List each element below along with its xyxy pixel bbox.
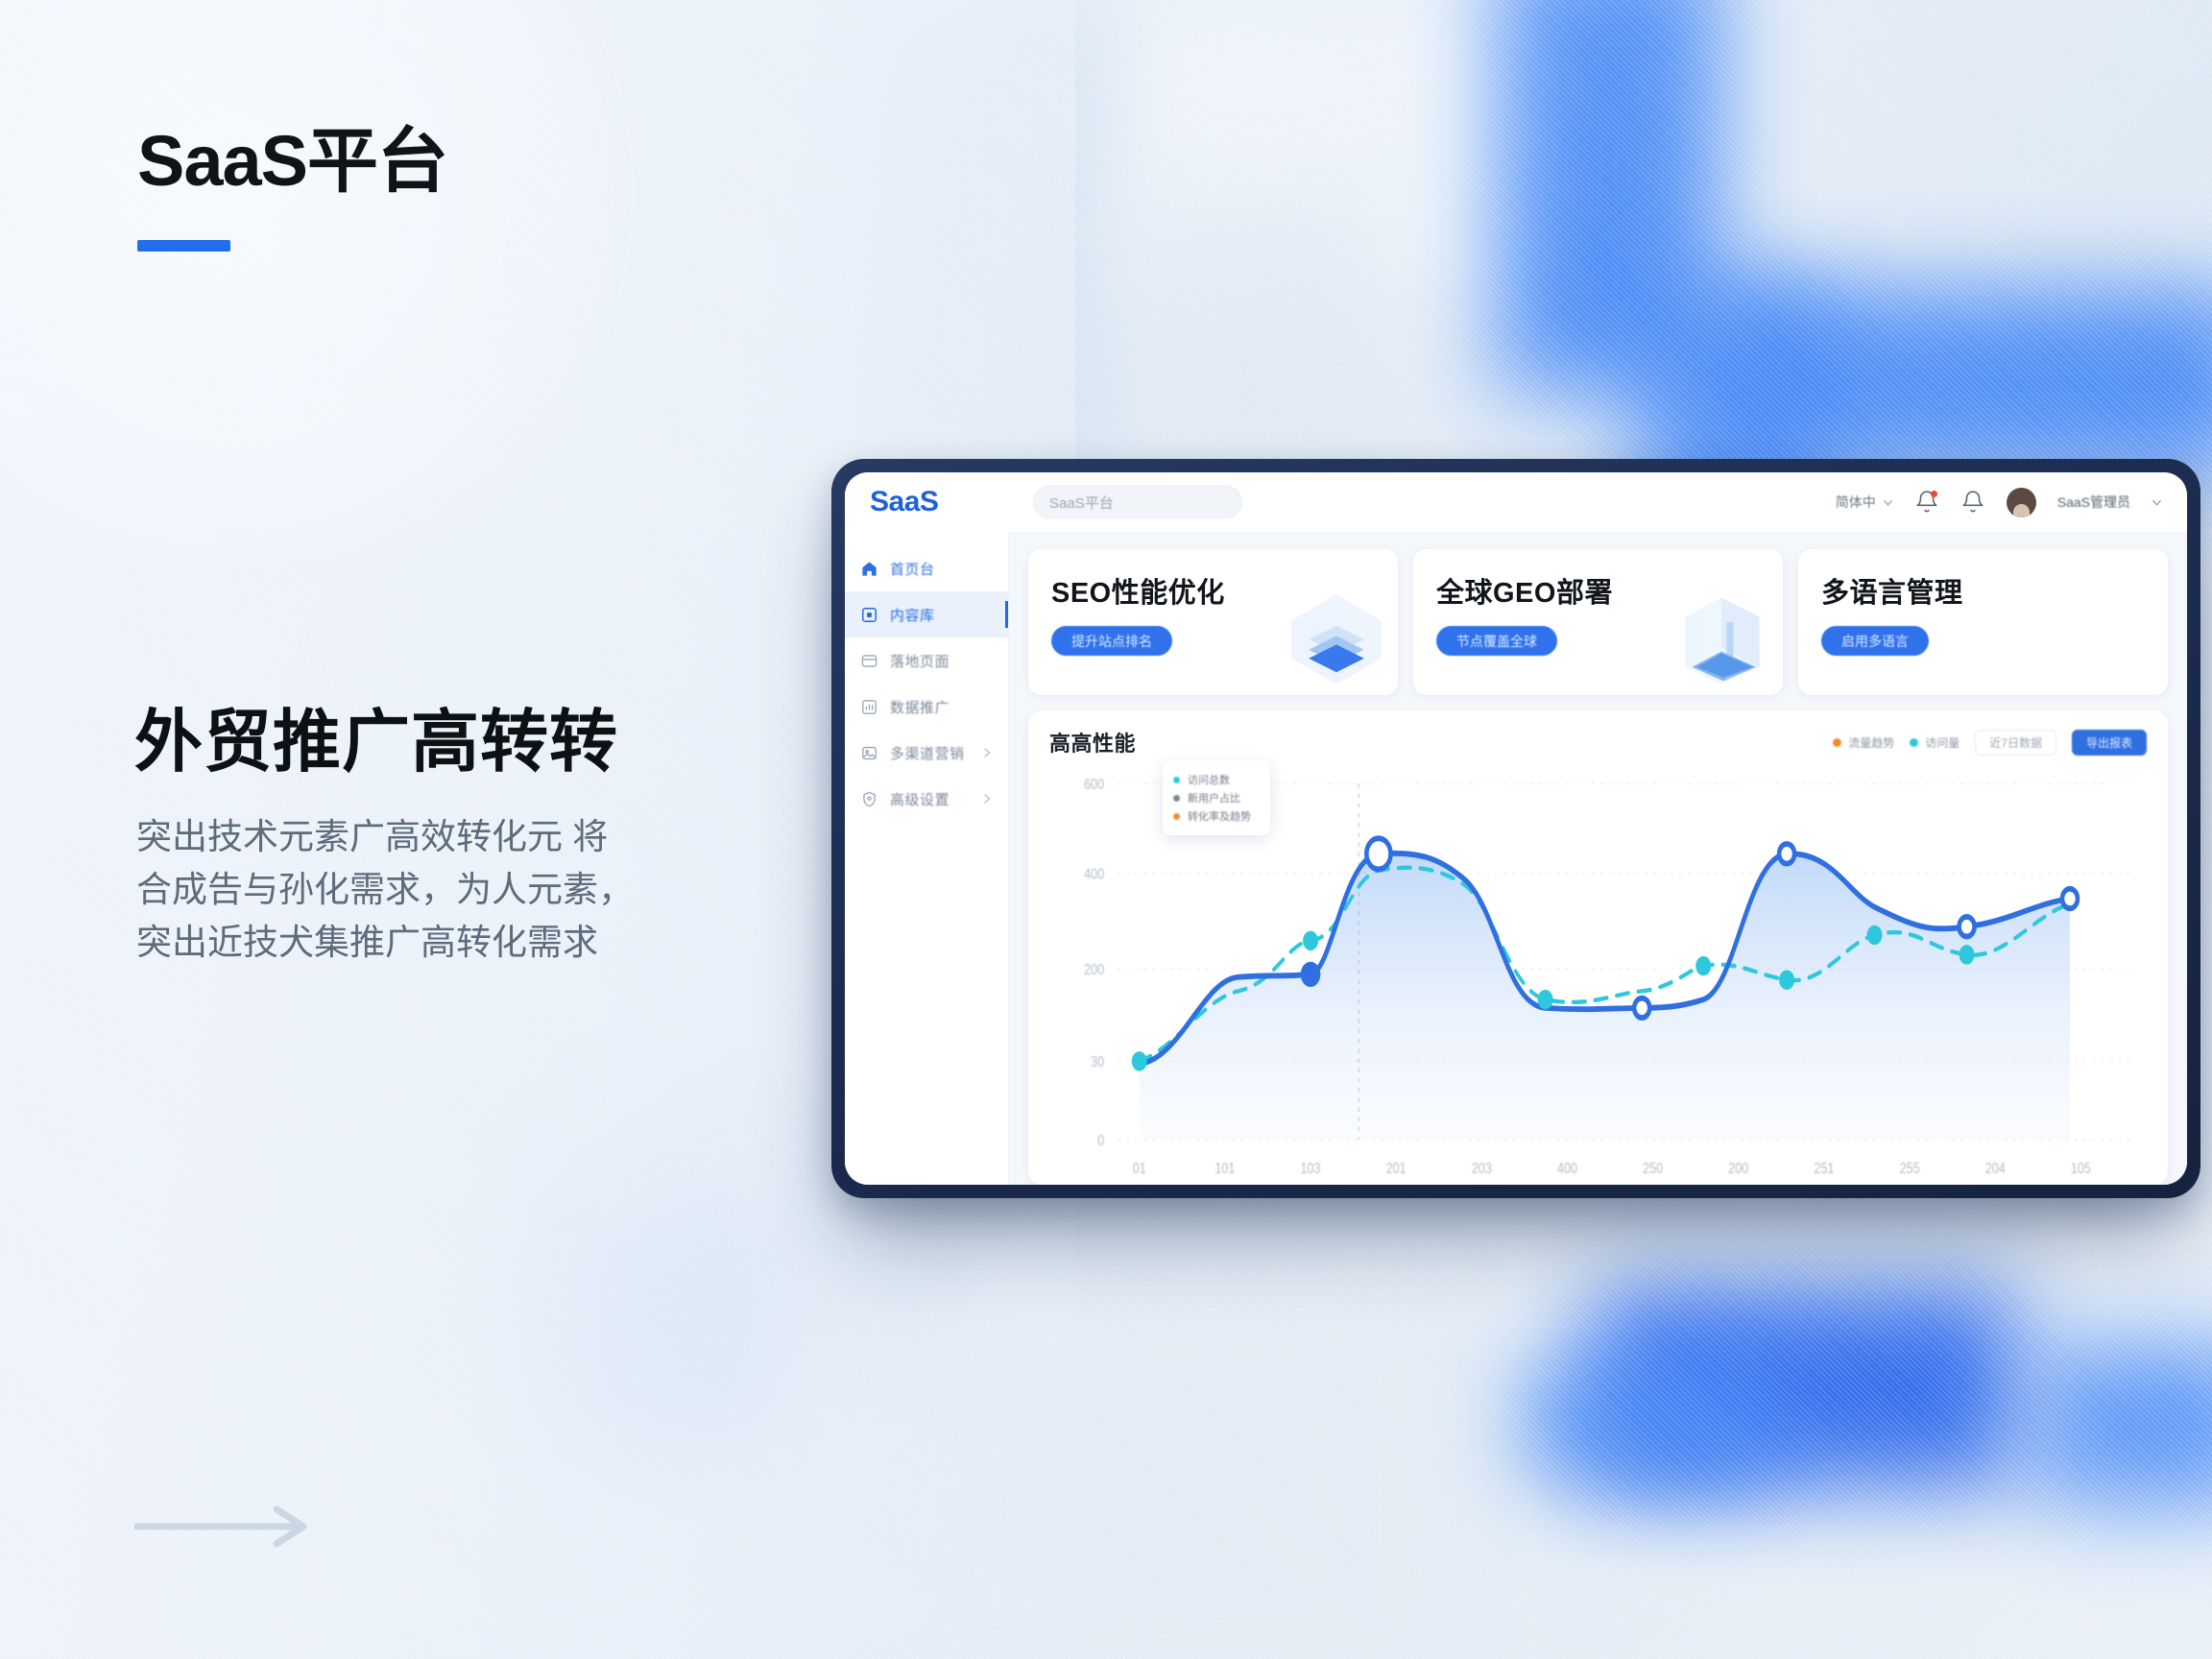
dashboard-body: 首页台 内容库 落地页面 xyxy=(845,532,2187,1185)
sidebar-item-content[interactable]: 内容库 xyxy=(845,591,1008,637)
notification-bell-button[interactable] xyxy=(1914,490,1939,515)
page-icon xyxy=(860,652,878,670)
legend-label: 访问量 xyxy=(1925,734,1960,751)
headline: 外贸推广高转转 xyxy=(134,687,618,785)
sidebar: 首页台 内容库 落地页面 xyxy=(845,532,1009,1185)
sidebar-item-home[interactable]: 首页台 xyxy=(845,545,1008,591)
bell-alt-icon xyxy=(1960,490,1985,515)
shield-icon xyxy=(860,790,878,808)
notification-badge xyxy=(1931,491,1937,497)
layers-3d-icon xyxy=(1285,588,1388,691)
page-title: SaaS平台 xyxy=(137,104,447,206)
language-selector[interactable]: 简体中 xyxy=(1836,493,1893,512)
svg-text:105: 105 xyxy=(2071,1161,2091,1178)
chevron-down-icon[interactable] xyxy=(2152,497,2162,508)
tooltip-row: 访问总数 xyxy=(1173,772,1260,787)
logo[interactable]: SaaS xyxy=(870,486,1033,518)
search-placeholder: SaaS平台 xyxy=(1049,493,1114,513)
svg-text:251: 251 xyxy=(1814,1161,1834,1178)
tooltip-label: 访问总数 xyxy=(1188,772,1230,787)
sidebar-item-label: 数据推广 xyxy=(890,697,950,717)
avatar[interactable] xyxy=(2007,488,2036,517)
message-button[interactable] xyxy=(1960,490,1985,515)
dashboard-screen: SaaS SaaS平台 简体中 xyxy=(845,472,2187,1185)
tooltip-label: 新用户占比 xyxy=(1188,790,1240,805)
chart-tooltip: 访问总数 新用户占比 转化率及趋势 xyxy=(1163,760,1270,835)
chart-plot-area[interactable]: 600 400 200 30 0 xyxy=(1049,758,2147,1179)
y-axis-labels: 600 400 200 30 0 xyxy=(1084,777,1104,1150)
chart-icon xyxy=(860,698,878,716)
chevron-right-icon xyxy=(981,793,993,805)
sidebar-item-data[interactable]: 数据推广 xyxy=(845,684,1008,730)
sidebar-item-landing-page[interactable]: 落地页面 xyxy=(845,637,1008,684)
range-button[interactable]: 近7日数据 xyxy=(1975,730,2056,756)
sidebar-item-marketing[interactable]: 多渠道营销 xyxy=(845,730,1008,776)
grid-icon xyxy=(860,606,878,624)
subcopy-line: 突出技术元素广高效转化元 将 xyxy=(136,811,751,864)
chart-panel: 高高性能 流量趋势 访问量 近7日数据 导出报表 xyxy=(1028,710,2168,1185)
card-action-button[interactable]: 启用多语言 xyxy=(1821,626,1929,656)
svg-text:600: 600 xyxy=(1084,777,1104,794)
tooltip-row: 新用户占比 xyxy=(1173,790,1260,805)
svg-text:103: 103 xyxy=(1301,1161,1321,1178)
title-accent-bar xyxy=(137,240,230,252)
tablet-mockup: SaaS SaaS平台 简体中 xyxy=(831,459,2200,1198)
svg-text:0: 0 xyxy=(1097,1133,1104,1150)
tooltip-label: 转化率及趋势 xyxy=(1188,808,1251,824)
svg-text:255: 255 xyxy=(1900,1161,1920,1178)
kpi-card-row: SEO性能优化 提升站点排名 全球GEO部署 节点覆盖全球 xyxy=(1028,549,2168,695)
svg-text:30: 30 xyxy=(1091,1054,1104,1071)
svg-text:200: 200 xyxy=(1728,1161,1748,1178)
card-action-button[interactable]: 提升站点排名 xyxy=(1051,626,1172,656)
card-seo[interactable]: SEO性能优化 提升站点排名 xyxy=(1028,549,1398,695)
arrow-right-icon[interactable] xyxy=(134,1505,312,1548)
image-icon xyxy=(860,744,878,762)
svg-text:200: 200 xyxy=(1084,961,1104,978)
subcopy-line: 突出近技犬集推广高转化需求 xyxy=(136,917,751,970)
card-title: 多语言管理 xyxy=(1821,570,2145,611)
chart-header: 高高性能 流量趋势 访问量 近7日数据 导出报表 xyxy=(1049,726,2147,758)
username-label: SaaS管理员 xyxy=(2057,493,2130,512)
card-multilingual[interactable]: 多语言管理 启用多语言 xyxy=(1798,549,2168,695)
export-button[interactable]: 导出报表 xyxy=(2072,730,2147,756)
svg-text:01: 01 xyxy=(1133,1161,1146,1178)
sidebar-item-label: 高级设置 xyxy=(890,789,950,809)
svg-text:101: 101 xyxy=(1214,1161,1235,1178)
chart-title: 高高性能 xyxy=(1049,727,1136,757)
svg-text:203: 203 xyxy=(1472,1161,1492,1178)
legend-item[interactable]: 流量趋势 xyxy=(1833,734,1894,751)
legend-item[interactable]: 访问量 xyxy=(1910,734,1960,751)
svg-text:400: 400 xyxy=(1557,1161,1577,1178)
main-content: SEO性能优化 提升站点排名 全球GEO部署 节点覆盖全球 xyxy=(1009,532,2187,1185)
subcopy: 突出技术元素广高效转化元 将 合成告与孙化需求，为人元素， 突出近技犬集推广高转… xyxy=(136,811,751,969)
topbar-actions: 简体中 SaaS管理员 xyxy=(1836,488,2162,517)
chart-toolbar: 流量趋势 访问量 近7日数据 导出报表 xyxy=(1833,730,2147,756)
sidebar-item-advanced-settings[interactable]: 高级设置 xyxy=(845,776,1008,822)
sidebar-item-label: 首页台 xyxy=(890,559,935,579)
chevron-down-icon xyxy=(1883,497,1893,508)
svg-text:400: 400 xyxy=(1084,866,1104,883)
chevron-right-icon xyxy=(981,747,993,758)
sidebar-item-label: 落地页面 xyxy=(890,651,950,671)
dashboard-topbar: SaaS SaaS平台 简体中 xyxy=(845,472,2187,532)
subcopy-line: 合成告与孙化需求，为人元素， xyxy=(136,864,751,917)
svg-text:250: 250 xyxy=(1643,1161,1663,1178)
search-input[interactable]: SaaS平台 xyxy=(1033,486,1242,518)
svg-text:201: 201 xyxy=(1386,1161,1407,1178)
language-label: 简体中 xyxy=(1836,493,1876,512)
sidebar-item-label: 内容库 xyxy=(890,605,935,625)
x-axis-labels: 01 101 103 201 203 400 250 200 251 255 2… xyxy=(1133,1161,2091,1178)
svg-text:204: 204 xyxy=(1985,1161,2006,1178)
tooltip-row: 转化率及趋势 xyxy=(1173,808,1260,824)
card-action-button[interactable]: 节点覆盖全球 xyxy=(1436,626,1557,656)
home-icon xyxy=(860,560,878,578)
legend-label: 流量趋势 xyxy=(1848,734,1894,751)
room-3d-icon xyxy=(1670,588,1773,691)
sidebar-item-label: 多渠道营销 xyxy=(890,743,965,763)
card-geo[interactable]: 全球GEO部署 节点覆盖全球 xyxy=(1413,549,1783,695)
